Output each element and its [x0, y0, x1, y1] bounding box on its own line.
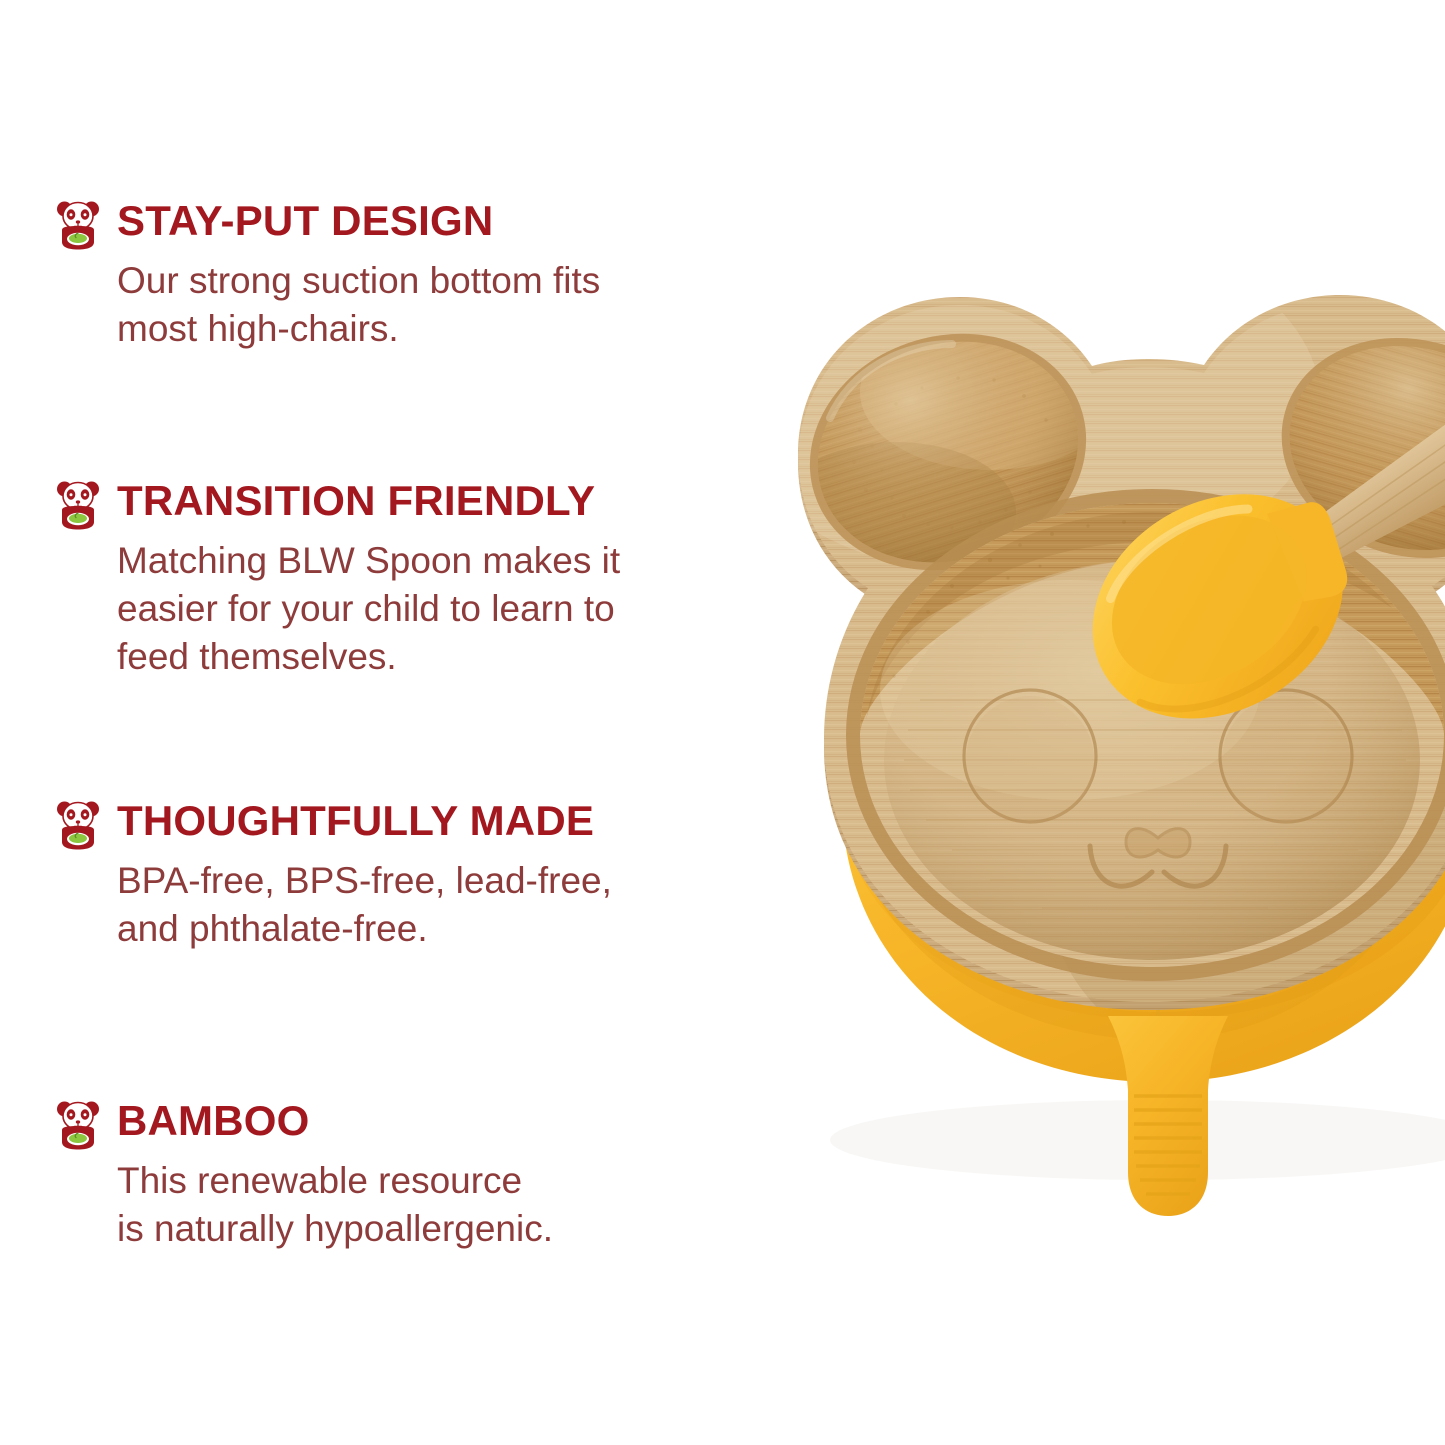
panda-mascot-icon — [55, 800, 101, 850]
feature-heading-row: TRANSITION FRIENDLY — [55, 478, 685, 530]
feature-title: TRANSITION FRIENDLY — [117, 478, 595, 524]
feature-item-thoughtfully-made: THOUGHTFULLY MADE BPA-free, BPS-free, le… — [55, 798, 685, 953]
product-image-bamboo-bear-plate — [690, 0, 1445, 1445]
feature-item-bamboo: BAMBOO This renewable resource is natura… — [55, 1098, 685, 1253]
feature-heading-row: BAMBOO — [55, 1098, 685, 1150]
feature-title: STAY-PUT DESIGN — [117, 198, 493, 244]
feature-body-text: This renewable resource is naturally hyp… — [117, 1157, 685, 1253]
feature-item-stay-put-design: STAY-PUT DESIGN Our strong suction botto… — [55, 198, 685, 353]
feature-list: STAY-PUT DESIGN Our strong suction botto… — [0, 0, 700, 1445]
panda-mascot-icon — [55, 1100, 101, 1150]
panda-mascot-icon — [55, 200, 101, 250]
panda-mascot-icon — [55, 480, 101, 530]
feature-heading-row: STAY-PUT DESIGN — [55, 198, 685, 250]
feature-body-text: Our strong suction bottom fits most high… — [117, 257, 685, 353]
feature-body-text: Matching BLW Spoon makes it easier for y… — [117, 537, 685, 681]
feature-heading-row: THOUGHTFULLY MADE — [55, 798, 685, 850]
feature-title: BAMBOO — [117, 1098, 310, 1144]
feature-body-text: BPA-free, BPS-free, lead-free, and phtha… — [117, 857, 685, 953]
feature-title: THOUGHTFULLY MADE — [117, 798, 594, 844]
feature-item-transition-friendly: TRANSITION FRIENDLY Matching BLW Spoon m… — [55, 478, 685, 681]
infographic-page: STAY-PUT DESIGN Our strong suction botto… — [0, 0, 1445, 1445]
